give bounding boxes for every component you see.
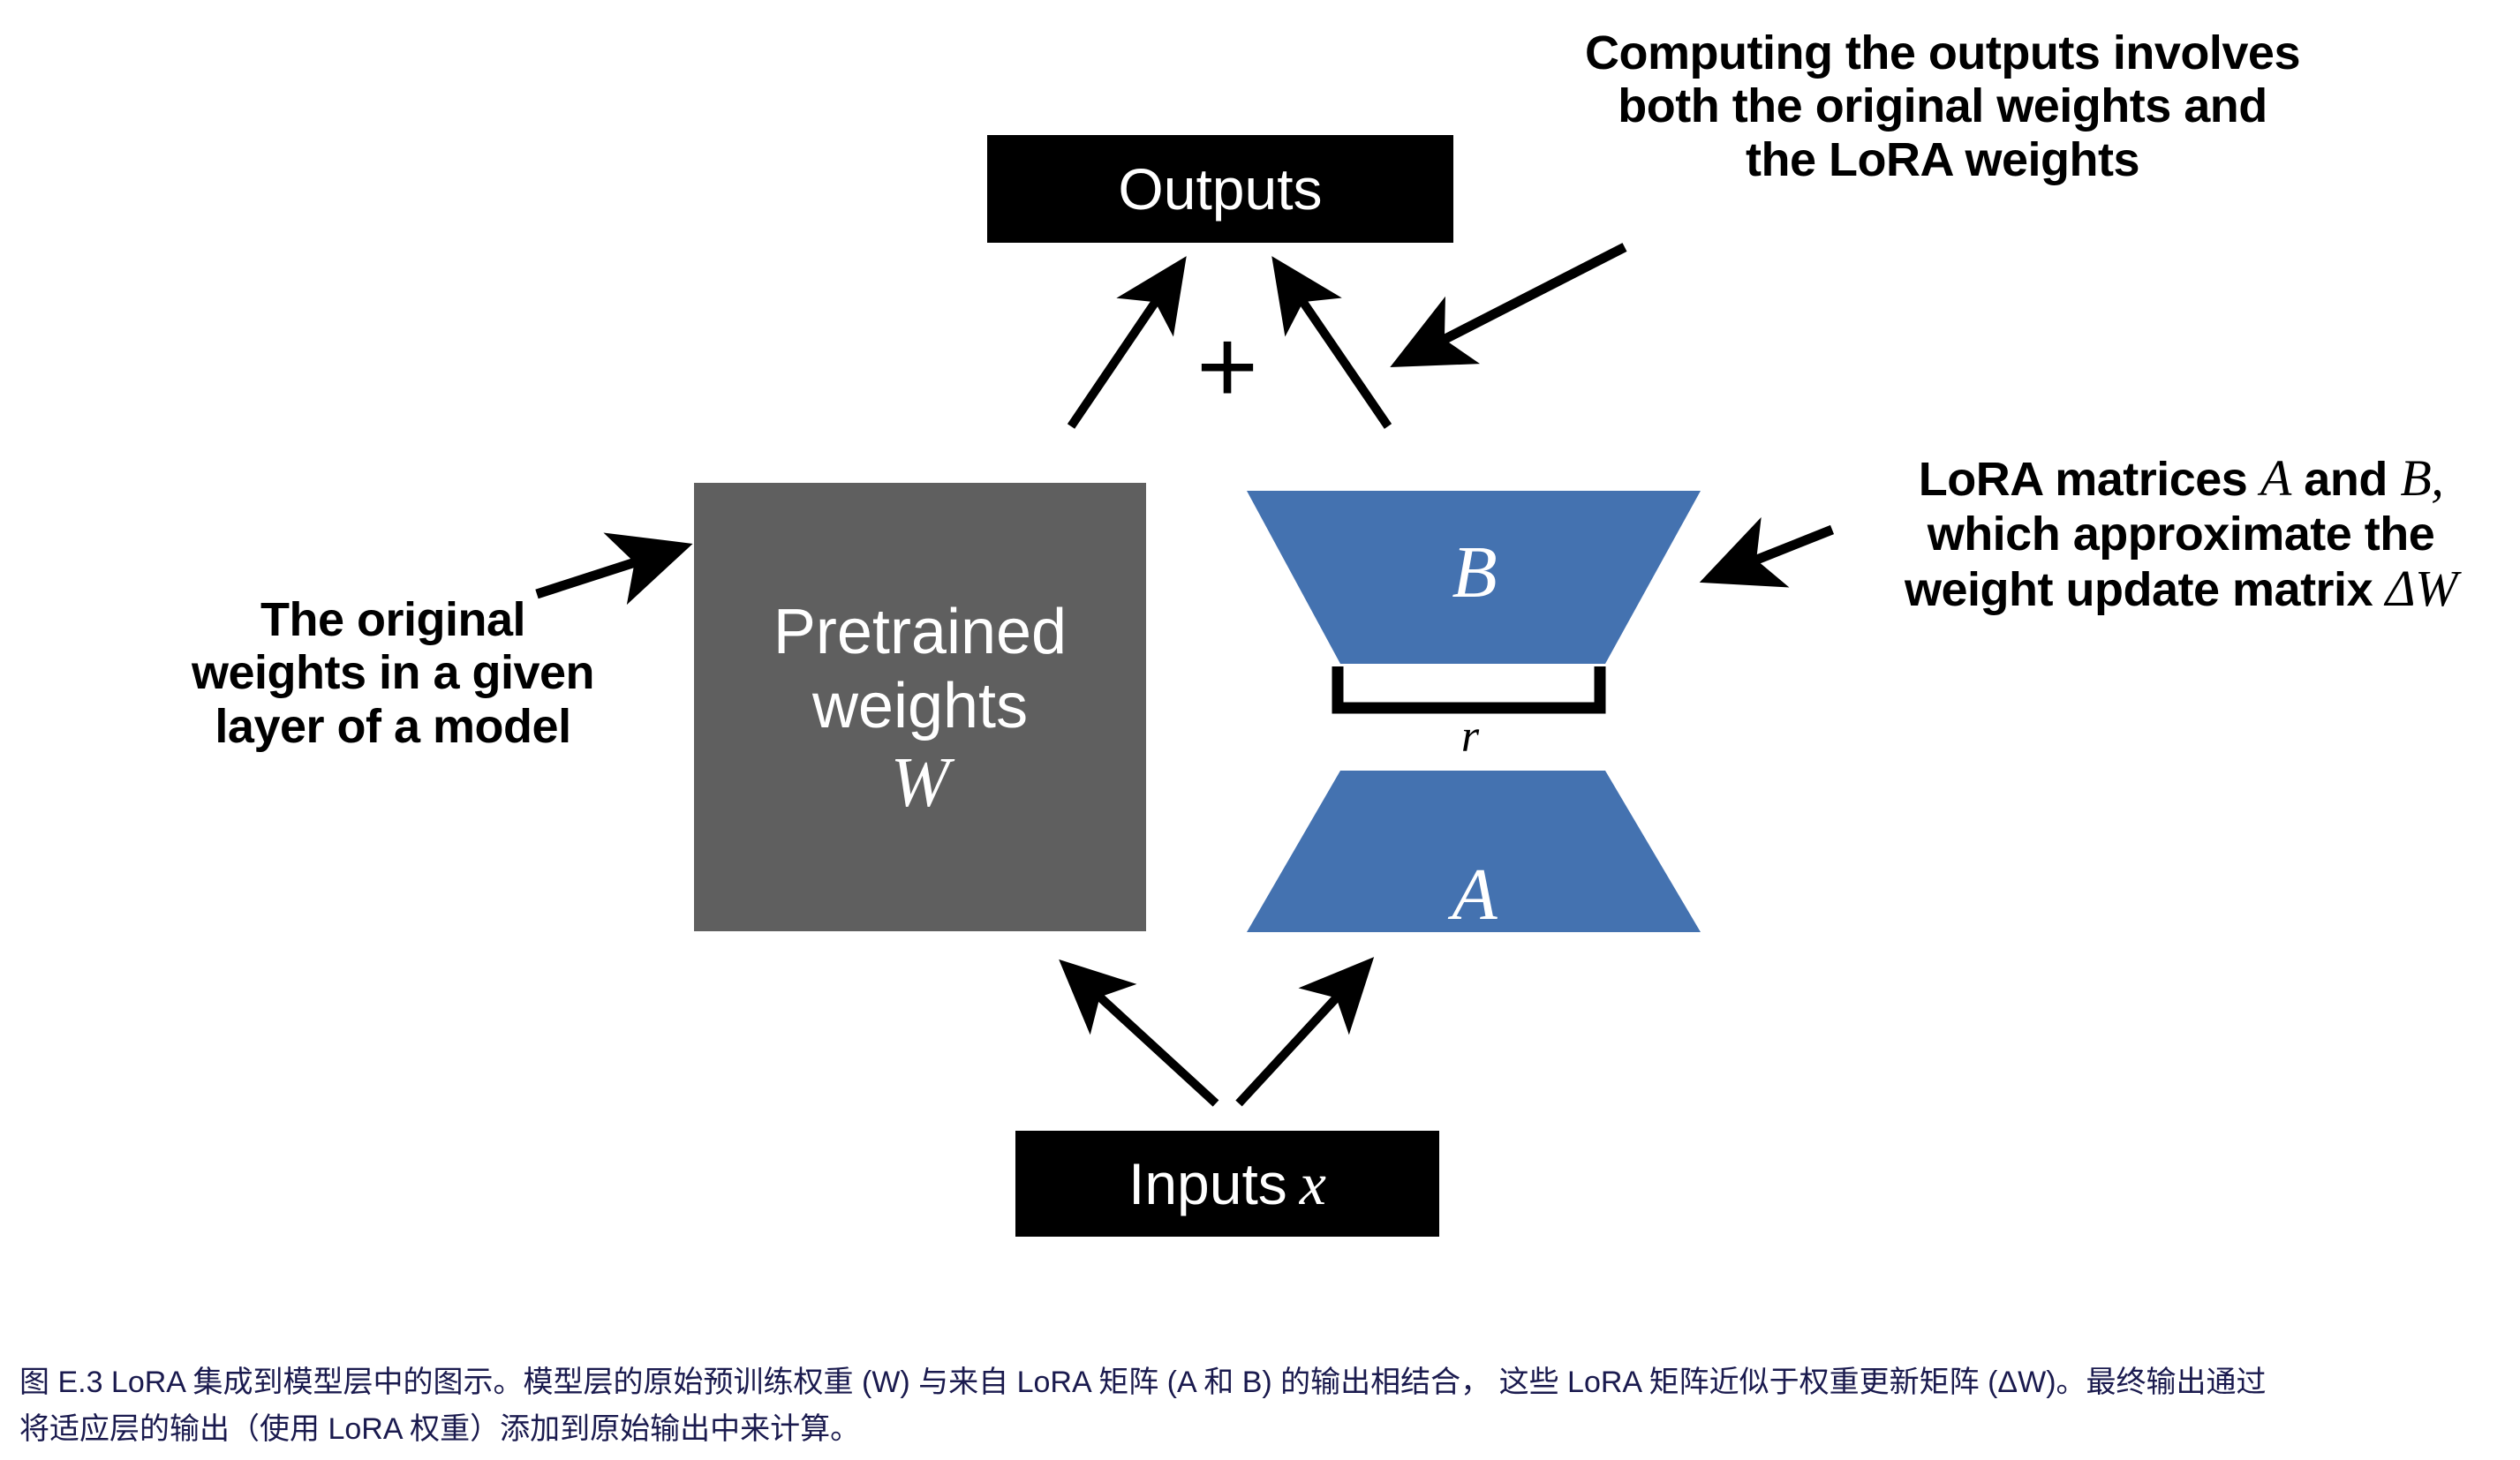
outputs-node: Outputs [987, 135, 1453, 243]
annotation-original-line1: The original [124, 593, 662, 646]
annotation-original-weights: The original weights in a given layer of… [124, 593, 662, 753]
arrow-lora-to-outputs [1278, 265, 1388, 426]
inputs-variable-symbol: x [1300, 1149, 1326, 1219]
outputs-label: Outputs [1118, 155, 1322, 222]
pretrained-weights-node: Pretrained weights W [694, 483, 1146, 931]
annotation-outputs: Computing the outputs involves both the … [1501, 26, 2384, 186]
annotation-lora-line3-prefix: weight update matrix [1905, 563, 2386, 616]
pretrained-label-line2: weights [812, 670, 1028, 744]
rank-bracket [1338, 666, 1600, 708]
arrow-pretrained-to-outputs [1071, 265, 1181, 426]
figure-caption: 图 E.3 LoRA 集成到模型层中的图示。模型层的原始预训练权重 (W) 与来… [19, 1359, 2501, 1452]
annotation-outputs-line2: both the original weights and [1501, 79, 2384, 132]
lora-matrix-b-label: B [1422, 530, 1528, 615]
rank-label: r [1417, 711, 1523, 763]
annotation-lora-line1-mid: and [2291, 453, 2401, 506]
annotation-lora-matrices: LoRA matrices A and B, which approximate… [1845, 450, 2516, 618]
arrow-inputs-to-lora [1239, 965, 1367, 1103]
pretrained-label-line1: Pretrained [773, 596, 1067, 670]
arrow-inputs-to-pretrained [1067, 967, 1216, 1103]
annotation-lora-line3: weight update matrix ΔW [1845, 561, 2516, 618]
inputs-label: Inputs [1128, 1150, 1287, 1217]
plus-operator-icon: + [1174, 313, 1280, 419]
annotation-lora-symbol-b: B, [2400, 449, 2443, 507]
leader-arrow-left-annotation [537, 547, 682, 594]
figure-canvas: Outputs Pretrained weights W Inputs x B … [0, 0, 2520, 1460]
annotation-original-line2: weights in a given [124, 646, 662, 699]
figure-caption-line2: 将适应层的输出（使用 LoRA 权重）添加到原始输出中来计算。 [19, 1406, 2501, 1453]
annotation-lora-symbol-a: A [2260, 449, 2291, 507]
annotation-original-line3: layer of a model [124, 700, 662, 753]
annotation-outputs-line1: Computing the outputs involves [1501, 26, 2384, 79]
lora-matrix-a-label: A [1422, 852, 1528, 937]
figure-caption-line1: 图 E.3 LoRA 集成到模型层中的图示。模型层的原始预训练权重 (W) 与来… [19, 1359, 2501, 1406]
inputs-node: Inputs x [1015, 1131, 1439, 1237]
annotation-outputs-line3: the LoRA weights [1501, 133, 2384, 186]
leader-arrow-top-annotation [1400, 247, 1625, 362]
annotation-lora-line1: LoRA matrices A and B, [1845, 450, 2516, 508]
annotation-lora-line1-prefix: LoRA matrices [1919, 453, 2260, 506]
annotation-lora-symbol-delta-w: ΔW [2386, 560, 2457, 617]
leader-arrow-right-annotation [1710, 530, 1832, 578]
pretrained-weight-symbol: W [891, 748, 950, 818]
annotation-lora-line2: which approximate the [1845, 508, 2516, 561]
